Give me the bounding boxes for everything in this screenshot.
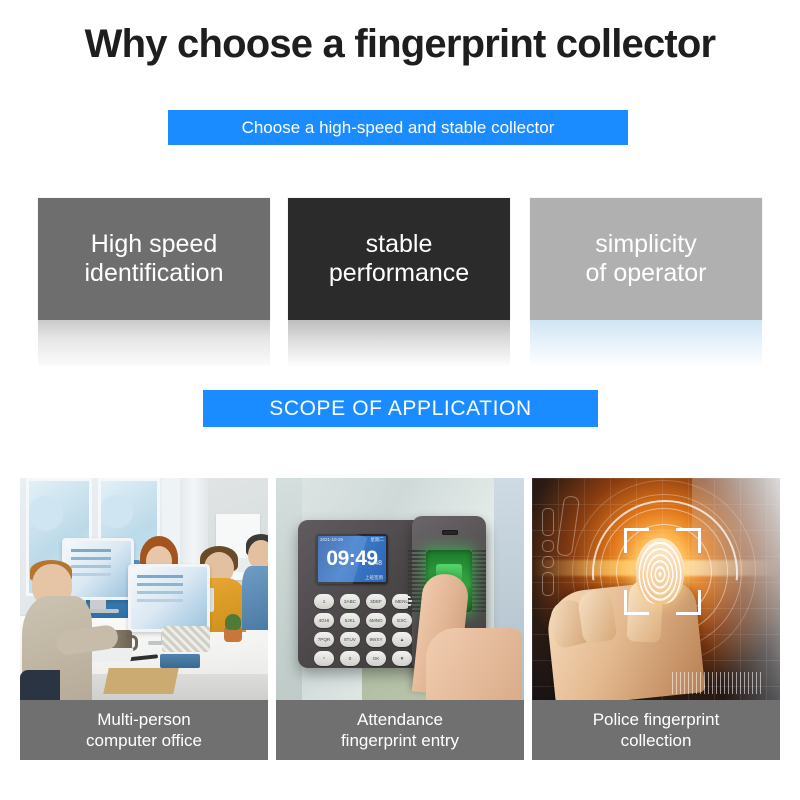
lcd-seconds-value: 48 xyxy=(374,560,382,567)
page-title: Why choose a fingerprint collector xyxy=(0,22,800,67)
feature-card-line-1: simplicity xyxy=(595,230,696,259)
feature-card-simplicity: simplicity of operator xyxy=(530,198,762,366)
terminal-key-up-arrow[interactable]: ▲ xyxy=(392,632,412,647)
infographic-page: Why choose a fingerprint collector Choos… xyxy=(0,0,800,800)
application-panel-office: Multi-person computer office xyxy=(20,478,268,766)
feature-card-line-2: identification xyxy=(85,259,224,288)
terminal-key-2[interactable]: 2ABC xyxy=(340,594,360,609)
terminal-key-9[interactable]: 9WXY xyxy=(366,632,386,647)
feature-card-line-2: performance xyxy=(329,259,469,288)
panel-caption: Attendance fingerprint entry xyxy=(276,700,524,760)
panel-caption: Police fingerprint collection xyxy=(532,700,780,760)
feature-card-body: simplicity of operator xyxy=(530,198,762,320)
crosshair-bracket-top-right xyxy=(676,528,701,553)
feature-card-body: stable performance xyxy=(288,198,510,320)
feature-card-high-speed: High speed identification xyxy=(38,198,270,366)
terminal-indicator-led xyxy=(442,530,458,535)
terminal-key-8[interactable]: 8TUV xyxy=(340,632,360,647)
terminal-vent-right xyxy=(472,550,486,612)
panel-caption-line-2: collection xyxy=(621,730,692,751)
panel-caption-line-1: Attendance xyxy=(357,709,443,730)
subtitle-banner: Choose a high-speed and stable collector xyxy=(168,110,628,145)
application-panel-attendance: 2021-10-26 星期二 09:49 48 上班签到 1 2ABC 3DEF… xyxy=(276,478,524,766)
terminal-key-4[interactable]: 4GHI xyxy=(314,613,334,628)
terminal-key-0[interactable]: 0 xyxy=(340,651,360,666)
office-workers-at-computers-photo xyxy=(20,478,268,700)
terminal-key-7[interactable]: 7PQR xyxy=(314,632,334,647)
panel-caption-line-1: Multi-person xyxy=(97,709,191,730)
scanning-hand xyxy=(426,628,522,700)
application-panel-police: Police fingerprint collection xyxy=(532,478,780,766)
terminal-key-3[interactable]: 3DEF xyxy=(366,594,386,609)
hud-marker-1 xyxy=(542,508,554,536)
feature-card-line-1: stable xyxy=(366,230,433,259)
feature-card-body: High speed identification xyxy=(38,198,270,320)
terminal-key-esc[interactable]: ESC xyxy=(392,613,412,628)
office-wire-basket xyxy=(162,626,210,652)
terminal-key-ok[interactable]: OK xyxy=(366,651,386,666)
hud-marker-4 xyxy=(542,572,554,596)
crosshair-bracket-top-left xyxy=(624,528,649,553)
lcd-weekday-text: 星期二 xyxy=(371,537,385,543)
scope-banner-label: SCOPE OF APPLICATION xyxy=(269,397,532,421)
feature-card-reflection xyxy=(530,320,762,366)
feature-card-line-2: of operator xyxy=(586,259,707,288)
fingerprint-scan-hud-photo xyxy=(532,478,780,700)
crosshair-bracket-bottom-right xyxy=(676,590,701,615)
panel-caption: Multi-person computer office xyxy=(20,700,268,760)
lcd-status-row: 2021-10-26 星期二 xyxy=(320,537,384,543)
panel-caption-line-1: Police fingerprint xyxy=(593,709,720,730)
terminal-lcd-display: 2021-10-26 星期二 09:49 48 上班签到 xyxy=(316,534,388,584)
hud-tick-scale xyxy=(672,672,764,694)
terminal-key-star[interactable]: * xyxy=(314,651,334,666)
terminal-key-1[interactable]: 1 xyxy=(314,594,334,609)
lcd-mode-text: 上班签到 xyxy=(365,575,383,581)
scope-of-application-banner: SCOPE OF APPLICATION xyxy=(203,390,598,427)
lcd-clock-value: 09:49 xyxy=(316,547,388,571)
application-panel-row: Multi-person computer office 2021-10-26 … xyxy=(20,478,780,766)
terminal-key-6[interactable]: 6MNO xyxy=(366,613,386,628)
office-monitor-front xyxy=(128,564,210,632)
lcd-date-text: 2021-10-26 xyxy=(320,537,343,543)
office-chair xyxy=(20,670,60,700)
feature-card-row: High speed identification stable perform… xyxy=(38,198,762,366)
panel-caption-line-2: computer office xyxy=(86,730,202,751)
office-notebook xyxy=(160,654,200,668)
feature-card-reflection xyxy=(288,320,510,366)
feature-card-reflection xyxy=(38,320,270,366)
hud-marker-2 xyxy=(542,540,554,552)
office-person-4-body xyxy=(242,566,268,630)
terminal-key-5[interactable]: 5JKL xyxy=(340,613,360,628)
subtitle-banner-label: Choose a high-speed and stable collector xyxy=(242,118,555,138)
fingerprint-attendance-terminal-photo: 2021-10-26 星期二 09:49 48 上班签到 1 2ABC 3DEF… xyxy=(276,478,524,700)
office-monitor-screen xyxy=(131,567,207,629)
office-monitor-back xyxy=(62,538,134,600)
panel-caption-line-2: fingerprint entry xyxy=(341,730,459,751)
office-potted-plant xyxy=(224,628,242,642)
feature-card-stable-performance: stable performance xyxy=(288,198,510,366)
feature-card-line-1: High speed xyxy=(91,230,217,259)
terminal-key-down-arrow[interactable]: ▼ xyxy=(392,651,412,666)
hud-marker-3 xyxy=(542,556,554,568)
office-monitor-screen xyxy=(65,541,131,597)
crosshair-bracket-bottom-left xyxy=(624,590,649,615)
office-clipboard xyxy=(103,668,179,694)
